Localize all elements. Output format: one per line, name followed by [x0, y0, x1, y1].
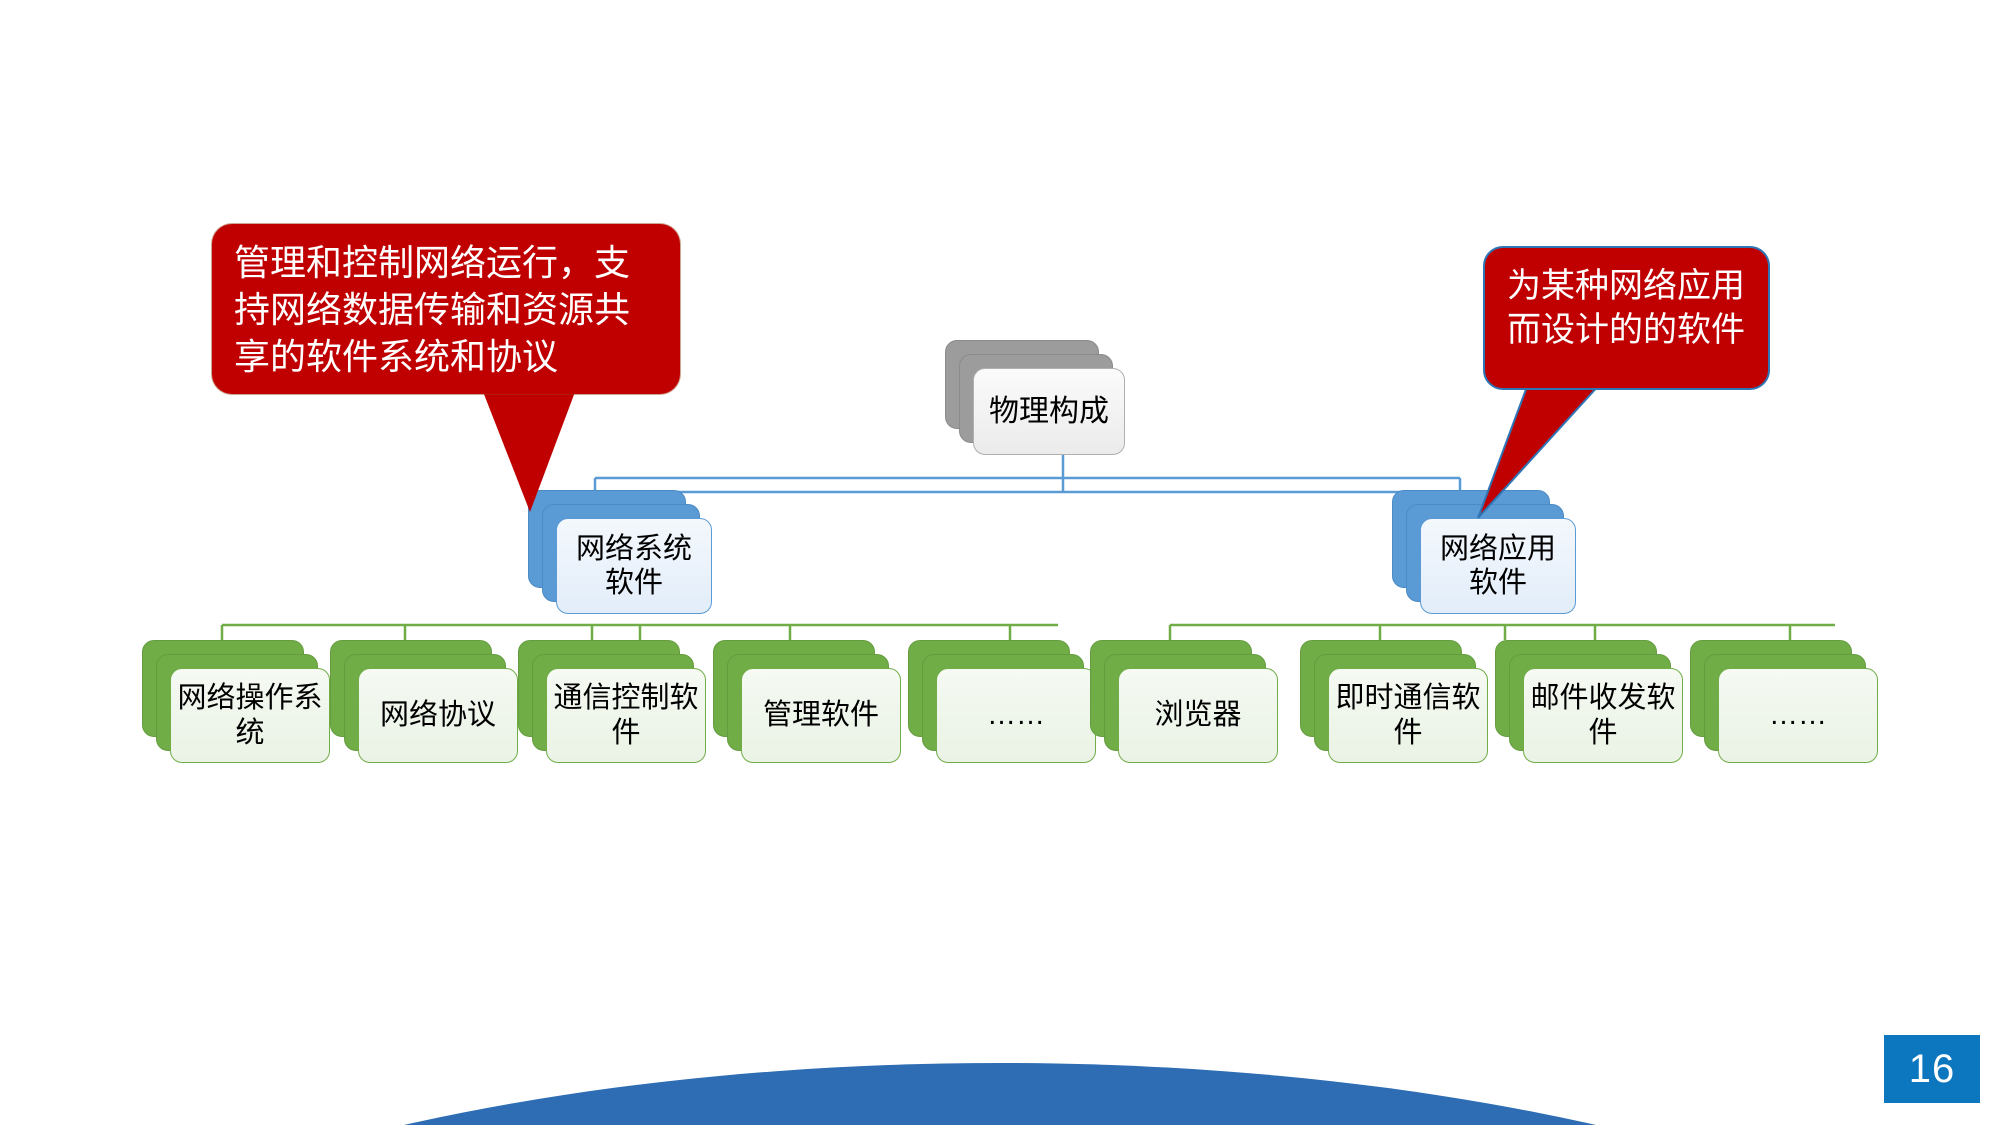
node-label: 网络应用软件: [1420, 518, 1576, 614]
node-communication-control-software[interactable]: 通信控制软件: [518, 640, 708, 770]
slide-canvas: 物理构成 网络系统软件 网络应用软件 网络操作系统 网络协议 通信控制软件 管理…: [0, 0, 1999, 1125]
node-label: 即时通信软件: [1328, 668, 1488, 763]
node-network-operating-system[interactable]: 网络操作系统: [142, 640, 332, 770]
node-label: 网络协议: [358, 668, 518, 763]
node-ellipsis-left[interactable]: ……: [908, 640, 1098, 770]
callout-right[interactable]: 为某种网络应用而设计的的软件: [1483, 246, 1770, 390]
page-number-text: 16: [1909, 1047, 1956, 1092]
node-root[interactable]: 物理构成: [945, 340, 1125, 455]
right-callout-tail: [1470, 378, 1650, 528]
left-callout-tail: [460, 380, 620, 520]
node-label: 浏览器: [1118, 668, 1278, 763]
node-label: ……: [936, 668, 1096, 763]
callout-right-text: 为某种网络应用而设计的的软件: [1485, 248, 1768, 368]
page-number-badge: 16: [1884, 1035, 1980, 1103]
node-label: 管理软件: [741, 668, 901, 763]
node-management-software[interactable]: 管理软件: [713, 640, 903, 770]
callout-left[interactable]: 管理和控制网络运行，支持网络数据传输和资源共享的软件系统和协议: [212, 224, 680, 394]
node-ellipsis-right[interactable]: ……: [1690, 640, 1880, 770]
node-label: ……: [1718, 668, 1878, 763]
node-label: 网络操作系统: [170, 668, 330, 763]
node-label: 邮件收发软件: [1523, 668, 1683, 763]
node-label: 网络系统软件: [556, 518, 712, 614]
node-instant-messaging-software[interactable]: 即时通信软件: [1300, 640, 1490, 770]
connector-lines: [0, 0, 1999, 1000]
node-root-label: 物理构成: [973, 368, 1125, 455]
bottom-arc-decoration: [0, 1063, 1999, 1125]
node-label: 通信控制软件: [546, 668, 706, 763]
callout-left-text: 管理和控制网络运行，支持网络数据传输和资源共享的软件系统和协议: [212, 224, 680, 396]
node-email-software[interactable]: 邮件收发软件: [1495, 640, 1685, 770]
node-network-protocol[interactable]: 网络协议: [330, 640, 520, 770]
node-browser[interactable]: 浏览器: [1090, 640, 1280, 770]
